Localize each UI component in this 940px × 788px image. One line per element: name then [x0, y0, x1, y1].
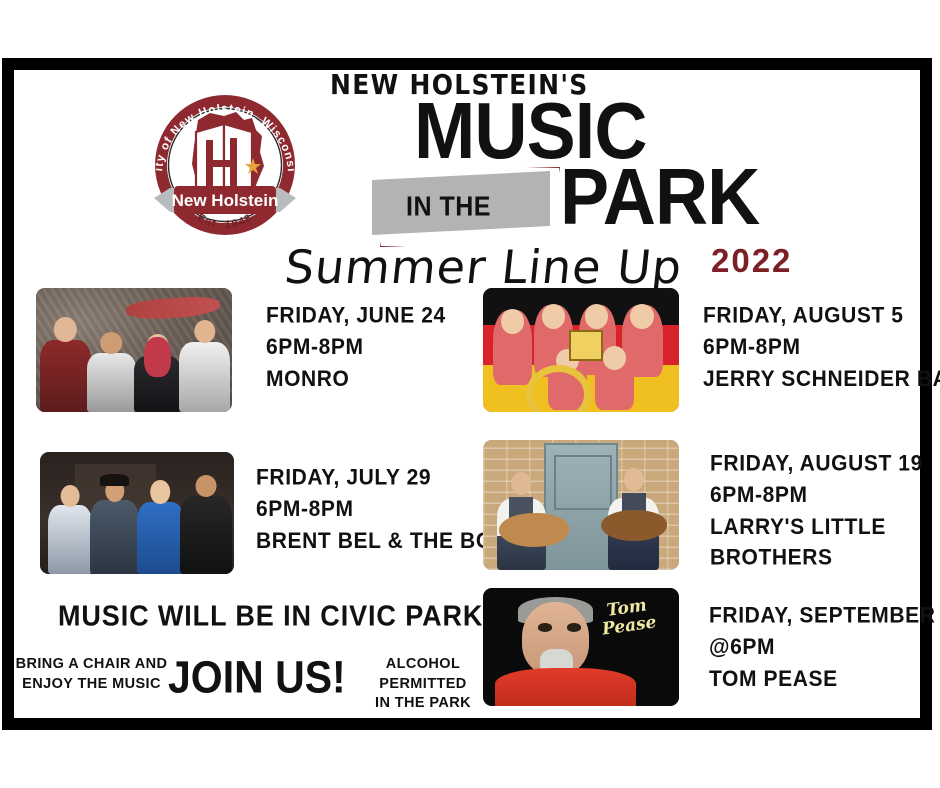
poster-year: 2022	[711, 242, 792, 280]
event-time: 6PM-8PM	[710, 480, 923, 512]
cowboy-hat-icon	[100, 474, 129, 486]
bring-chair-line1: BRING A CHAIR AND	[14, 655, 169, 675]
alcohol-line1: ALCOHOL PERMITTED	[343, 655, 503, 694]
poster-title-park: PARK	[560, 160, 759, 234]
poster-subtitle: Summer Line Up	[282, 240, 685, 294]
banner-label: IN THE	[406, 191, 491, 223]
larrys-little-brothers-photo	[483, 440, 679, 570]
brent-bel-and-the-boys-photo	[40, 452, 234, 574]
event-date: FRIDAY, AUGUST 5	[703, 300, 940, 332]
new-holstein-city-logo: City of New Holstein, Wisconsin New Hols…	[140, 80, 310, 255]
accordion-icon	[569, 330, 602, 361]
event-act: LARRY'S LITTLE	[710, 511, 923, 543]
event-details-larrys-little-brothers: FRIDAY, AUGUST 19 6PM-8PM LARRY'S LITTLE…	[710, 448, 923, 574]
event-act: MONRO	[266, 363, 446, 395]
bring-chair-line2: ENJOY THE MUSIC	[14, 675, 169, 695]
event-act-line2: BROTHERS	[710, 543, 923, 575]
event-details-monro: FRIDAY, JUNE 24 6PM-8PM MONRO	[266, 300, 446, 395]
event-act: TOM PEASE	[709, 663, 940, 695]
event-date: FRIDAY, JUNE 24	[266, 300, 446, 332]
monro-band-photo	[36, 288, 232, 412]
bring-chair-note: BRING A CHAIR AND ENJOY THE MUSIC	[14, 655, 169, 694]
alcohol-line2: IN THE PARK	[343, 694, 503, 714]
svg-text:New Holstein: New Holstein	[172, 191, 279, 210]
venue-note: MUSIC WILL BE IN CIVIC PARK	[58, 600, 483, 633]
event-details-tom-pease: FRIDAY, SEPTEMBER 9 @6PM TOM PEASE	[709, 600, 940, 695]
alcohol-note: ALCOHOL PERMITTED IN THE PARK	[343, 655, 503, 714]
event-time: @6PM	[709, 632, 940, 664]
event-time: 6PM-8PM	[266, 332, 446, 364]
poster: City of New Holstein, Wisconsin New Hols…	[0, 0, 940, 788]
city-seal-icon: City of New Holstein, Wisconsin New Hols…	[140, 80, 310, 255]
event-details-jerry-schneider-band: FRIDAY, AUGUST 5 6PM-8PM JERRY SCHNEIDER…	[703, 300, 940, 395]
jerry-schneider-band-photo	[483, 288, 679, 412]
acoustic-guitar-icon	[499, 513, 570, 547]
event-date: FRIDAY, SEPTEMBER 9	[709, 600, 940, 632]
tom-pease-photo: Tom Pease	[483, 588, 679, 706]
event-date: FRIDAY, AUGUST 19	[710, 448, 923, 480]
event-act: JERRY SCHNEIDER BAND	[703, 363, 940, 395]
join-us-cta: JOIN US!	[168, 652, 346, 704]
event-time: 6PM-8PM	[703, 332, 940, 364]
